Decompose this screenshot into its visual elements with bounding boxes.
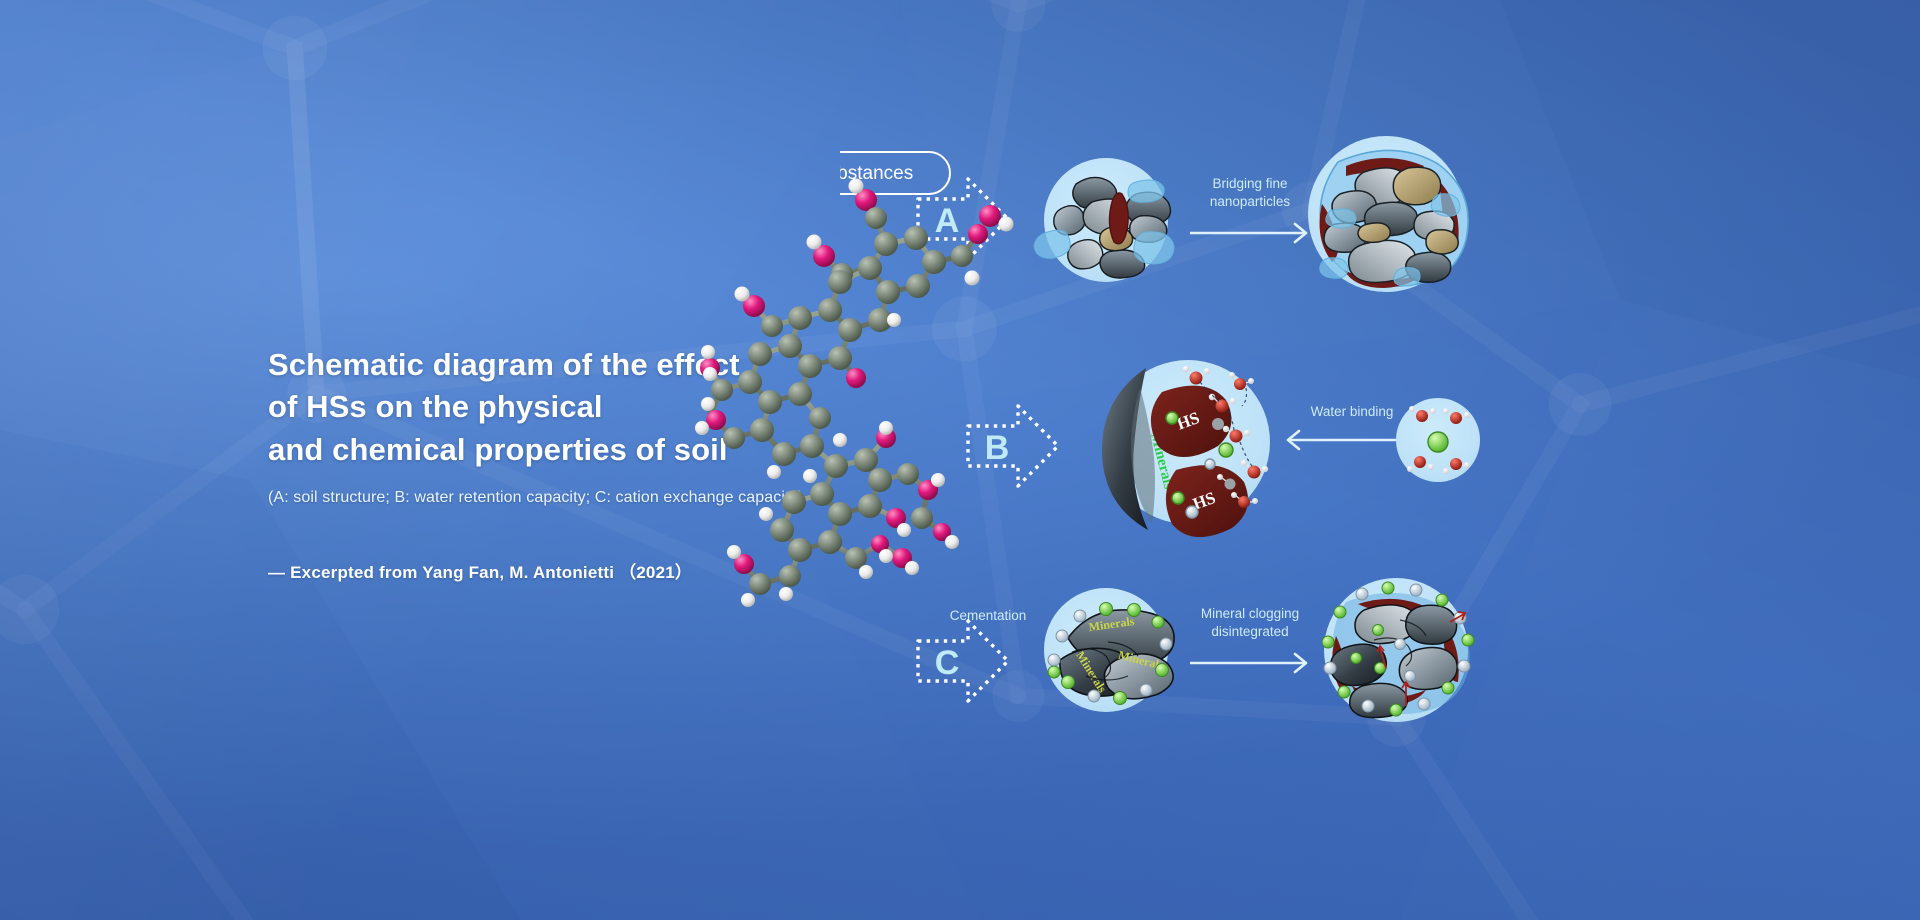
flow-c-label-line-2: disintegrated [1211,624,1288,639]
carbon-atoms [711,207,973,595]
arrow-right-icon-c [1190,654,1306,672]
loose-soil-particles-circle [1034,158,1174,282]
dotted-arrow-c: C [918,621,1008,701]
cemented-minerals-circle: Minerals Minerals Minerals [1044,588,1174,712]
disintegrated-minerals-circle [1322,578,1474,722]
flow-a: Bridging fine nanoparticles [1190,176,1306,242]
flow-a-label-line-2: nanoparticles [1210,194,1291,209]
arrow-right-icon [1190,224,1306,242]
row-c-letter: C [935,644,960,682]
flow-b: Water binding [1288,404,1396,449]
flow-c: Mineral clogging disintegrated [1190,606,1306,672]
hydrogen-atoms [695,179,1014,608]
flow-c-label-line-1: Mineral clogging [1201,606,1299,621]
arrow-left-icon [1288,431,1396,449]
flow-a-label-line-1: Bridging fine [1212,176,1287,191]
humic-substance-ball-and-stick-model [690,170,1020,630]
aggregated-soil-circle [1308,136,1468,292]
row-b: B Minerals HS HS [968,360,1480,537]
water-molecules-circle [1396,398,1480,482]
hs-mineral-water-circle: Minerals HS HS [1102,360,1270,537]
flow-b-label-line-1: Water binding [1311,404,1394,419]
